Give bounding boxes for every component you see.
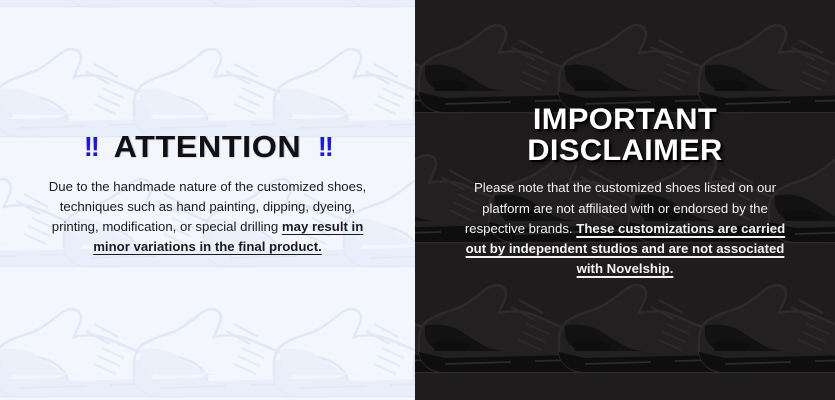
disclaimer-content: IMPORTANT DISCLAIMER Please note that th…: [415, 105, 835, 279]
disclaimer-panel: IMPORTANT DISCLAIMER Please note that th…: [415, 0, 835, 400]
disclaimer-heading-line2: DISCLAIMER: [431, 136, 818, 167]
disclaimer-heading: IMPORTANT DISCLAIMER: [431, 105, 818, 166]
double-exclamation-left-icon: !!: [83, 132, 97, 162]
double-exclamation-right-icon: !!: [318, 132, 332, 162]
attention-heading: !!ATTENTION!!: [15, 131, 401, 164]
attention-body: Due to the handmade nature of the custom…: [43, 177, 373, 257]
attention-heading-text: ATTENTION: [114, 129, 302, 164]
disclaimer-heading-line1: IMPORTANT: [431, 105, 818, 136]
disclaimer-body: Please note that the customized shoes li…: [464, 178, 786, 278]
promo-banner: !!ATTENTION!! Due to the handmade nature…: [0, 0, 835, 400]
attention-content: !!ATTENTION!! Due to the handmade nature…: [0, 131, 415, 257]
attention-panel: !!ATTENTION!! Due to the handmade nature…: [0, 0, 415, 400]
